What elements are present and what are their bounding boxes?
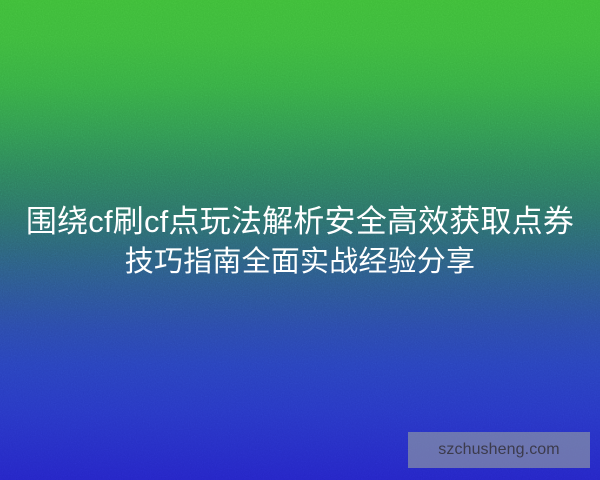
watermark-url-text: szchusheng.com bbox=[438, 442, 559, 458]
headline-line-1: 围绕cf刷cf点玩法解析安全高效获取点券 bbox=[0, 202, 600, 242]
headline-text-block: 围绕cf刷cf点玩法解析安全高效获取点券 技巧指南全面实战经验分享 bbox=[0, 202, 600, 282]
banner-image: 围绕cf刷cf点玩法解析安全高效获取点券 技巧指南全面实战经验分享 szchus… bbox=[0, 0, 600, 480]
watermark-badge: szchusheng.com bbox=[408, 432, 590, 468]
headline-line-2: 技巧指南全面实战经验分享 bbox=[0, 242, 600, 282]
